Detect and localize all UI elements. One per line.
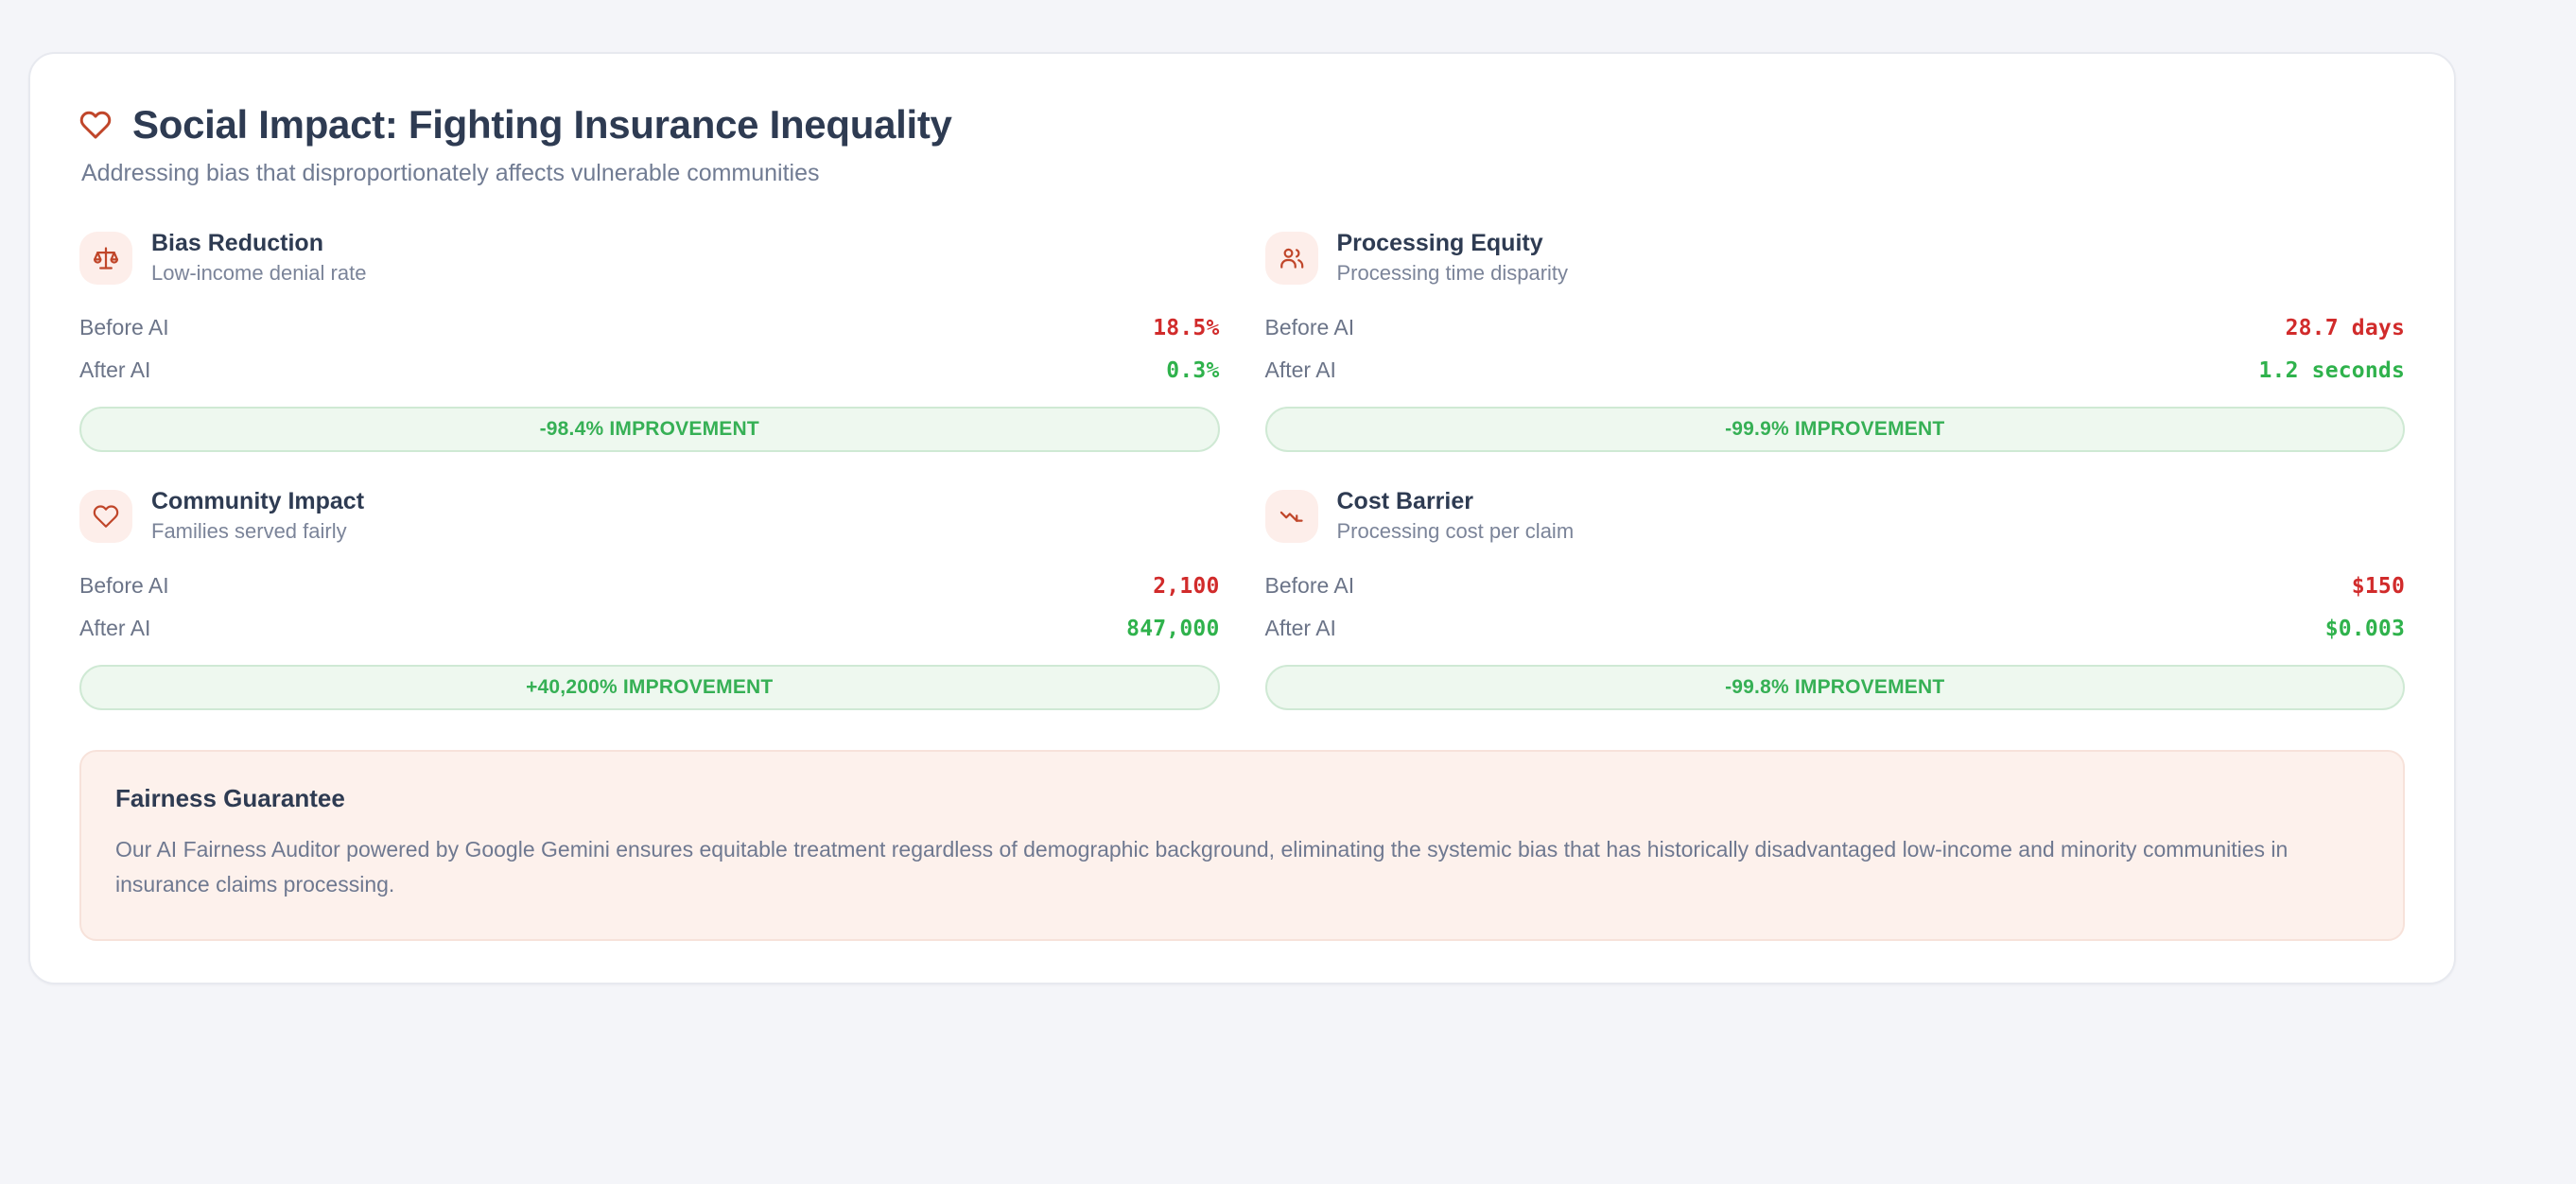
row-value-before: 2,100	[1153, 574, 1219, 599]
row-label-after: After AI	[79, 357, 150, 383]
metric-description: Low-income denial rate	[151, 261, 366, 286]
improvement-badge: -98.4% IMPROVEMENT	[79, 407, 1220, 452]
metric-titles: Community Impact Families served fairly	[151, 488, 364, 544]
panel-header: Social Impact: Fighting Insurance Inequa…	[79, 103, 2405, 190]
metric-row-before: Before AI 28.7 days	[1265, 306, 2406, 349]
improvement-badge: -99.9% IMPROVEMENT	[1265, 407, 2406, 452]
fairness-guarantee-body: Our AI Fairness Auditor powered by Googl…	[115, 832, 2369, 903]
row-value-before: 28.7 days	[2286, 316, 2405, 340]
metric-name: Processing Equity	[1337, 230, 1569, 257]
social-impact-panel: Social Impact: Fighting Insurance Inequa…	[28, 52, 2456, 984]
metric-name: Cost Barrier	[1337, 488, 1575, 515]
row-label-after: After AI	[1265, 616, 1336, 641]
metric-rows: Before AI 28.7 days After AI 1.2 seconds	[1265, 306, 2406, 392]
improvement-label: -99.8% IMPROVEMENT	[1725, 676, 1944, 699]
row-value-before: 18.5%	[1153, 316, 1219, 340]
fairness-guarantee-title: Fairness Guarantee	[115, 784, 2369, 813]
heart-icon	[79, 490, 132, 543]
row-value-after: $0.003	[2325, 617, 2405, 641]
metric-card-community-impact: Community Impact Families served fairly …	[79, 488, 1220, 710]
metric-header: Cost Barrier Processing cost per claim	[1265, 488, 2406, 544]
metric-titles: Bias Reduction Low-income denial rate	[151, 230, 366, 286]
trending-down-icon	[1265, 490, 1318, 543]
users-icon	[1265, 232, 1318, 285]
heart-icon	[79, 109, 112, 141]
metric-card-processing-equity: Processing Equity Processing time dispar…	[1265, 230, 2406, 452]
panel-subtitle: Addressing bias that disproportionately …	[81, 158, 2405, 190]
row-label-before: Before AI	[1265, 573, 1355, 599]
metric-name: Community Impact	[151, 488, 364, 515]
improvement-label: -98.4% IMPROVEMENT	[540, 418, 759, 441]
metric-row-before: Before AI $150	[1265, 565, 2406, 607]
metric-row-after: After AI 0.3%	[79, 349, 1220, 392]
metric-row-after: After AI $0.003	[1265, 607, 2406, 650]
metric-description: Families served fairly	[151, 519, 364, 544]
improvement-label: +40,200% IMPROVEMENT	[526, 676, 773, 699]
metric-description: Processing cost per claim	[1337, 519, 1575, 544]
row-label-before: Before AI	[79, 573, 169, 599]
row-label-before: Before AI	[79, 315, 169, 340]
row-value-after: 0.3%	[1166, 358, 1219, 383]
metric-name: Bias Reduction	[151, 230, 366, 257]
metric-rows: Before AI 18.5% After AI 0.3%	[79, 306, 1220, 392]
fairness-guarantee-panel: Fairness Guarantee Our AI Fairness Audit…	[79, 750, 2405, 941]
metric-header: Bias Reduction Low-income denial rate	[79, 230, 1220, 286]
improvement-badge: -99.8% IMPROVEMENT	[1265, 665, 2406, 710]
scales-icon	[79, 232, 132, 285]
row-value-before: $150	[2352, 574, 2405, 599]
improvement-label: -99.9% IMPROVEMENT	[1725, 418, 1944, 441]
row-label-after: After AI	[79, 616, 150, 641]
row-label-after: After AI	[1265, 357, 1336, 383]
page-title: Social Impact: Fighting Insurance Inequa…	[132, 103, 952, 147]
metric-description: Processing time disparity	[1337, 261, 1569, 286]
metric-header: Community Impact Families served fairly	[79, 488, 1220, 544]
metric-row-before: Before AI 2,100	[79, 565, 1220, 607]
metric-titles: Cost Barrier Processing cost per claim	[1337, 488, 1575, 544]
improvement-badge: +40,200% IMPROVEMENT	[79, 665, 1220, 710]
metric-rows: Before AI 2,100 After AI 847,000	[79, 565, 1220, 650]
metric-row-after: After AI 847,000	[79, 607, 1220, 650]
metric-rows: Before AI $150 After AI $0.003	[1265, 565, 2406, 650]
metric-titles: Processing Equity Processing time dispar…	[1337, 230, 1569, 286]
row-value-after: 847,000	[1126, 617, 1219, 641]
metrics-grid: Bias Reduction Low-income denial rate Be…	[79, 230, 2405, 710]
metric-header: Processing Equity Processing time dispar…	[1265, 230, 2406, 286]
title-row: Social Impact: Fighting Insurance Inequa…	[79, 103, 2405, 147]
page-root: Social Impact: Fighting Insurance Inequa…	[0, 0, 2576, 1184]
metric-row-before: Before AI 18.5%	[79, 306, 1220, 349]
row-value-after: 1.2 seconds	[2258, 358, 2405, 383]
row-label-before: Before AI	[1265, 315, 1355, 340]
metric-card-cost-barrier: Cost Barrier Processing cost per claim B…	[1265, 488, 2406, 710]
metric-row-after: After AI 1.2 seconds	[1265, 349, 2406, 392]
metric-card-bias-reduction: Bias Reduction Low-income denial rate Be…	[79, 230, 1220, 452]
